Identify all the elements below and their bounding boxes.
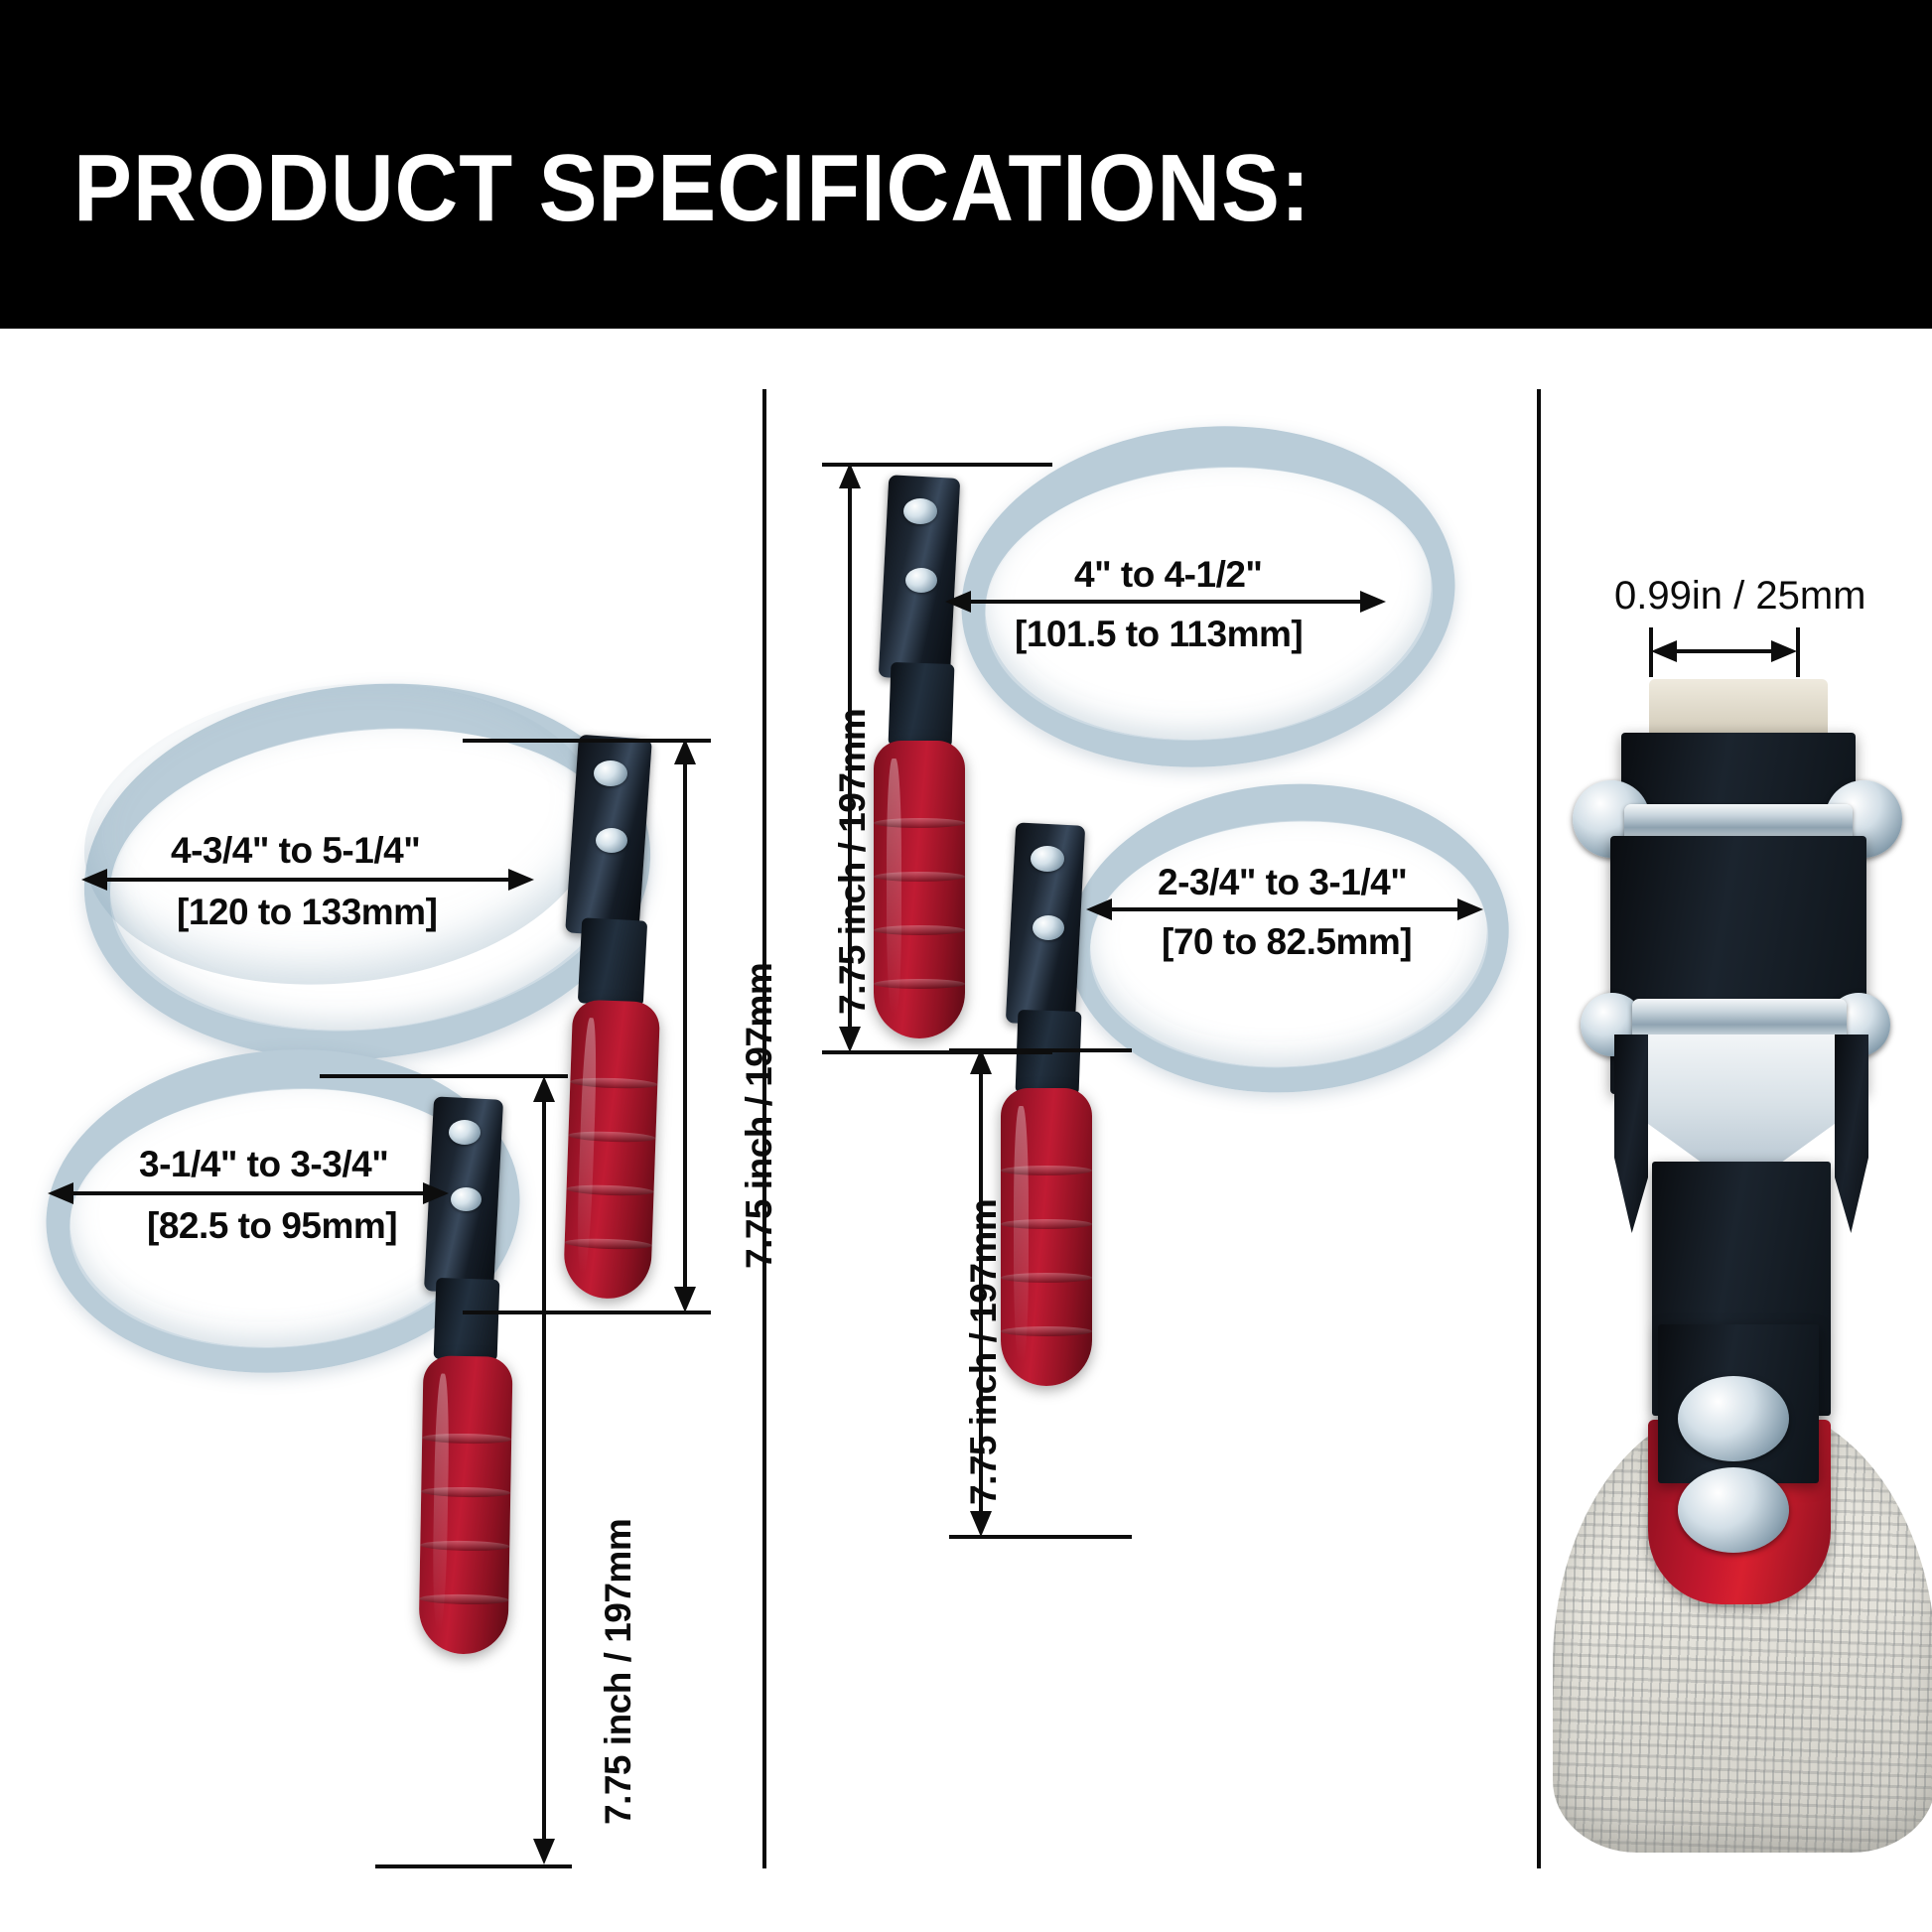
grip-notch [1001, 1273, 1092, 1283]
extension-line-bottom [375, 1864, 572, 1868]
dimension-length-label: 7.75 inch / 197mm [963, 1199, 1005, 1505]
grip-notch [874, 925, 965, 935]
handle-grip [874, 741, 965, 1038]
dimension-line [1110, 907, 1459, 911]
handle-rivet [1033, 915, 1064, 940]
handle-neck [889, 662, 955, 748]
arrow-left-icon [81, 869, 107, 891]
grip-highlight [576, 1018, 599, 1274]
dimension-width-label: 0.99in / 25mm [1614, 574, 1865, 619]
arrow-left-icon [945, 591, 971, 613]
arrow-left-icon [48, 1182, 73, 1204]
rivet-upper [1678, 1376, 1789, 1461]
dimension-line [683, 755, 687, 1299]
arrow-up-icon [970, 1048, 992, 1074]
arrow-down-icon [533, 1839, 555, 1864]
arrow-down-icon [839, 1027, 861, 1052]
grip-highlight [1014, 1106, 1029, 1362]
arrow-right-icon [1457, 898, 1483, 920]
roller-lower [1632, 999, 1847, 1040]
panel-divider-right [1537, 389, 1541, 1868]
dimension-line [1666, 649, 1781, 653]
dimension-length-label: 7.75 inch / 197mm [739, 963, 780, 1269]
handle-grip [1001, 1088, 1092, 1386]
dimension-inch-label: 2-3/4" to 3-1/4" [1158, 862, 1407, 903]
arrow-left-icon [1086, 898, 1112, 920]
dimension-line [105, 878, 510, 882]
dimension-mm-label: [70 to 82.5mm] [1162, 921, 1412, 963]
arrow-up-icon [533, 1076, 555, 1102]
dimension-inch-label: 4" to 4-1/2" [1074, 554, 1262, 596]
handle-grip [563, 1000, 660, 1301]
handle-rivet [451, 1187, 482, 1211]
grip-notch [874, 872, 965, 882]
dimension-line [969, 600, 1362, 604]
dimension-inch-label: 4-3/4" to 5-1/4" [171, 830, 420, 872]
handle-rivet [449, 1120, 481, 1145]
page-title: PRODUCT SPECIFICATIONS: [73, 141, 1311, 236]
grip-highlight [887, 759, 901, 1015]
fork-left [1614, 1035, 1648, 1233]
grip-notch [874, 818, 965, 828]
dimension-line [71, 1191, 425, 1195]
arrow-down-icon [674, 1287, 696, 1312]
extension-line-top [320, 1074, 568, 1078]
arrow-left-icon [1651, 640, 1677, 662]
arrow-right-icon [423, 1182, 449, 1204]
arrow-right-icon [508, 869, 534, 891]
dimension-line [542, 1092, 546, 1849]
band-strap-end [1649, 679, 1828, 741]
product-specification-image: PRODUCT SPECIFICATIONS: [0, 0, 1932, 1932]
handle-rivet [903, 498, 937, 524]
dimension-length-label: 7.75 inch / 197mm [598, 1519, 639, 1825]
dimension-mm-label: [82.5 to 95mm] [147, 1205, 397, 1247]
handle-neck [578, 917, 647, 1006]
handle-rivet [596, 828, 627, 853]
handle-rivet [905, 568, 937, 593]
grip-notch [1001, 1326, 1092, 1336]
grip-notch [1001, 1219, 1092, 1229]
arrow-down-icon [970, 1511, 992, 1537]
dimension-length-label: 7.75 inch / 197mm [832, 709, 874, 1015]
arrow-up-icon [839, 463, 861, 488]
header-banner: PRODUCT SPECIFICATIONS: [0, 0, 1932, 329]
dimension-inch-label: 3-1/4" to 3-3/4" [139, 1144, 388, 1185]
handle-grip [418, 1355, 512, 1655]
arrow-right-icon [1771, 640, 1797, 662]
handle-neck [434, 1278, 500, 1361]
dimension-mm-label: [101.5 to 113mm] [1015, 614, 1303, 655]
dimension-mm-label: [120 to 133mm] [177, 892, 437, 933]
arrow-up-icon [674, 739, 696, 764]
grip-notch [1001, 1166, 1092, 1175]
fork-right [1835, 1035, 1868, 1233]
handle-rivet [1031, 846, 1064, 872]
grip-notch [874, 979, 965, 989]
arrow-right-icon [1360, 591, 1386, 613]
rivet-lower [1678, 1467, 1789, 1553]
grip-highlight [431, 1373, 450, 1629]
grip-notch [419, 1593, 508, 1605]
handle-rivet [594, 760, 627, 786]
